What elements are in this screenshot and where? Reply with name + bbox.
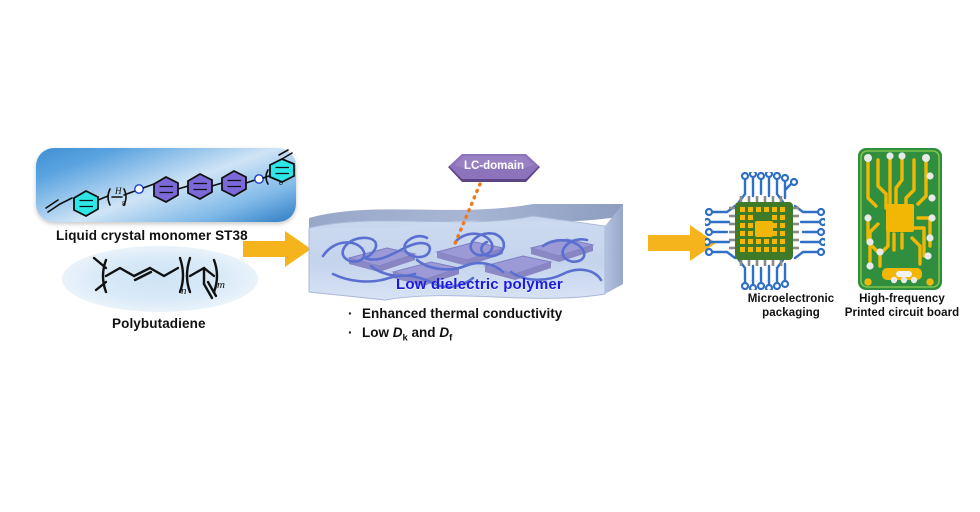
- bullet-item-1: ·Enhanced thermal conductivity: [348, 306, 562, 321]
- caption-lc-monomer: Liquid crystal monomer ST38: [56, 228, 248, 243]
- chain-subscript-left: 8: [122, 201, 126, 208]
- polybutadiene-subscript-m: m: [217, 279, 225, 291]
- microelectronic-chip-graphic: [705, 172, 825, 290]
- benefits-list: ·Enhanced thermal conductivity ·Low Dk a…: [348, 306, 562, 348]
- slab-label: Low dielectric polymer: [396, 276, 563, 293]
- oxygen-atom-left: [135, 185, 143, 193]
- caption-microelectronic-packaging: Microelectronic packaging: [736, 292, 846, 320]
- df-subscript: f: [449, 333, 452, 344]
- lc-monomer-box: H 8 H 8: [36, 148, 296, 222]
- oxygen-atom-right: [255, 175, 263, 183]
- bullet-marker: ·: [348, 325, 362, 340]
- benzene-ring-purple-1: [154, 177, 178, 202]
- caption-printed-circuit-board: High-frequency Printed circuit board: [840, 292, 964, 320]
- polybutadiene-group: n m: [62, 246, 258, 312]
- lc-domain-label: LC-domain: [446, 152, 542, 182]
- bullet-conjunction: and: [408, 325, 440, 340]
- benzene-ring-purple-3: [222, 171, 246, 196]
- graphical-abstract-figure: H 8 H 8: [0, 0, 980, 512]
- process-arrow-1: [243, 228, 313, 275]
- bullet-item-2: ·Low Dk and Df: [348, 325, 562, 344]
- printed-circuit-board-graphic: [856, 146, 944, 292]
- benzene-ring-purple-2: [188, 174, 212, 199]
- benzene-ring-cyan-left: [74, 191, 98, 216]
- pcb-center-chip: [886, 204, 914, 232]
- df-symbol: Df: [439, 325, 452, 340]
- caption-pcb-line1: High-frequency: [840, 292, 964, 306]
- caption-pcb-line2: Printed circuit board: [840, 306, 964, 320]
- bullet-text-prefix: Low: [362, 325, 393, 340]
- svg-text:H: H: [114, 186, 122, 196]
- benzene-ring-cyan-right: [270, 159, 294, 182]
- polybutadiene-structure: n m: [62, 246, 258, 312]
- lc-domain-connector: [448, 182, 488, 250]
- caption-polybutadiene: Polybutadiene: [112, 316, 206, 331]
- polybutadiene-subscript-n: n: [181, 285, 187, 297]
- caption-chip-line1: Microelectronic: [736, 292, 846, 306]
- lc-domain-callout: LC-domain: [446, 152, 542, 184]
- bullet-text-1: Enhanced thermal conductivity: [362, 306, 562, 321]
- dk-symbol: Dk: [393, 325, 408, 340]
- bullet-marker: ·: [348, 306, 362, 321]
- lc-monomer-structure: H 8 H 8: [36, 148, 296, 222]
- caption-chip-line2: packaging: [736, 306, 846, 320]
